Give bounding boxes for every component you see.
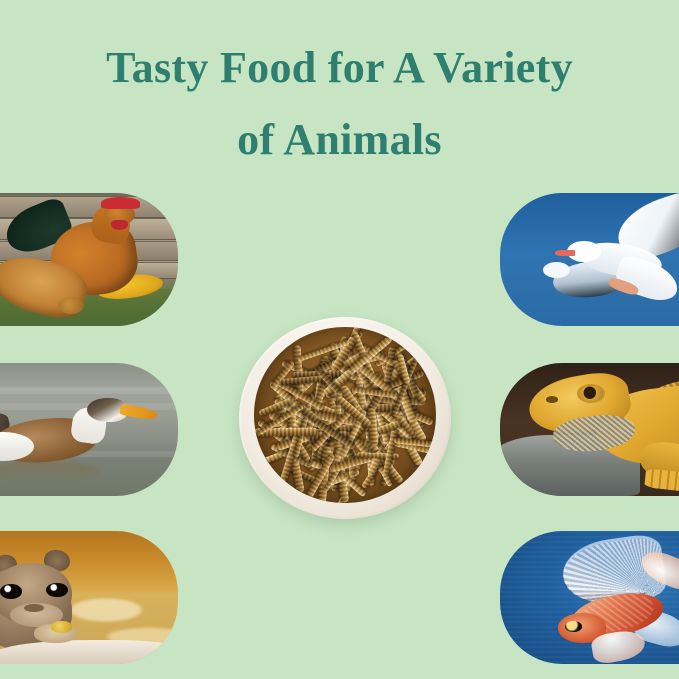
bearded-dragon-scene — [500, 363, 679, 496]
mealworm-bowl — [239, 317, 451, 519]
hamster-nose — [24, 604, 43, 612]
second-seagull-head — [543, 262, 570, 278]
chickens-scene — [0, 193, 178, 326]
duck-photo — [0, 363, 178, 496]
photo-card-betta-fish — [500, 531, 679, 664]
dragon-nostril — [546, 396, 558, 403]
seagull-beak — [555, 250, 574, 255]
title-line-2: of Animals — [0, 118, 679, 162]
rooster-comb — [101, 197, 139, 209]
water-ripple — [0, 387, 178, 394]
bearded-dragon-photo — [500, 363, 679, 496]
hamster-eye-left — [0, 584, 22, 599]
title-line-1: Tasty Food for A Variety — [0, 46, 679, 90]
rooster-wattle — [111, 220, 128, 231]
photo-card-bearded-dragon — [500, 363, 679, 496]
betta-eye — [565, 621, 582, 632]
photo-card-chickens — [0, 193, 178, 326]
photo-card-seagulls — [500, 193, 679, 326]
photo-card-hamster — [0, 531, 178, 664]
duck-scene — [0, 363, 178, 496]
betta-fish-photo — [500, 531, 679, 664]
hamster-scene — [0, 531, 178, 664]
hamster-photo — [0, 531, 178, 664]
seagulls-photo — [500, 193, 679, 326]
photo-card-duck — [0, 363, 178, 496]
feeding-dish — [0, 640, 178, 664]
hamster-eye-right — [46, 583, 68, 598]
mealworm-pile — [254, 327, 436, 503]
betta-fish-scene — [500, 531, 679, 664]
dragon-eye — [577, 384, 605, 403]
poster-canvas: Tasty Food for A Variety of Animals — [0, 0, 679, 679]
seagulls-scene — [500, 193, 679, 326]
page-title: Tasty Food for A Variety of Animals — [0, 46, 679, 162]
duck-reflection — [0, 461, 101, 482]
chickens-photo — [0, 193, 178, 326]
dragon-toes — [644, 468, 679, 494]
